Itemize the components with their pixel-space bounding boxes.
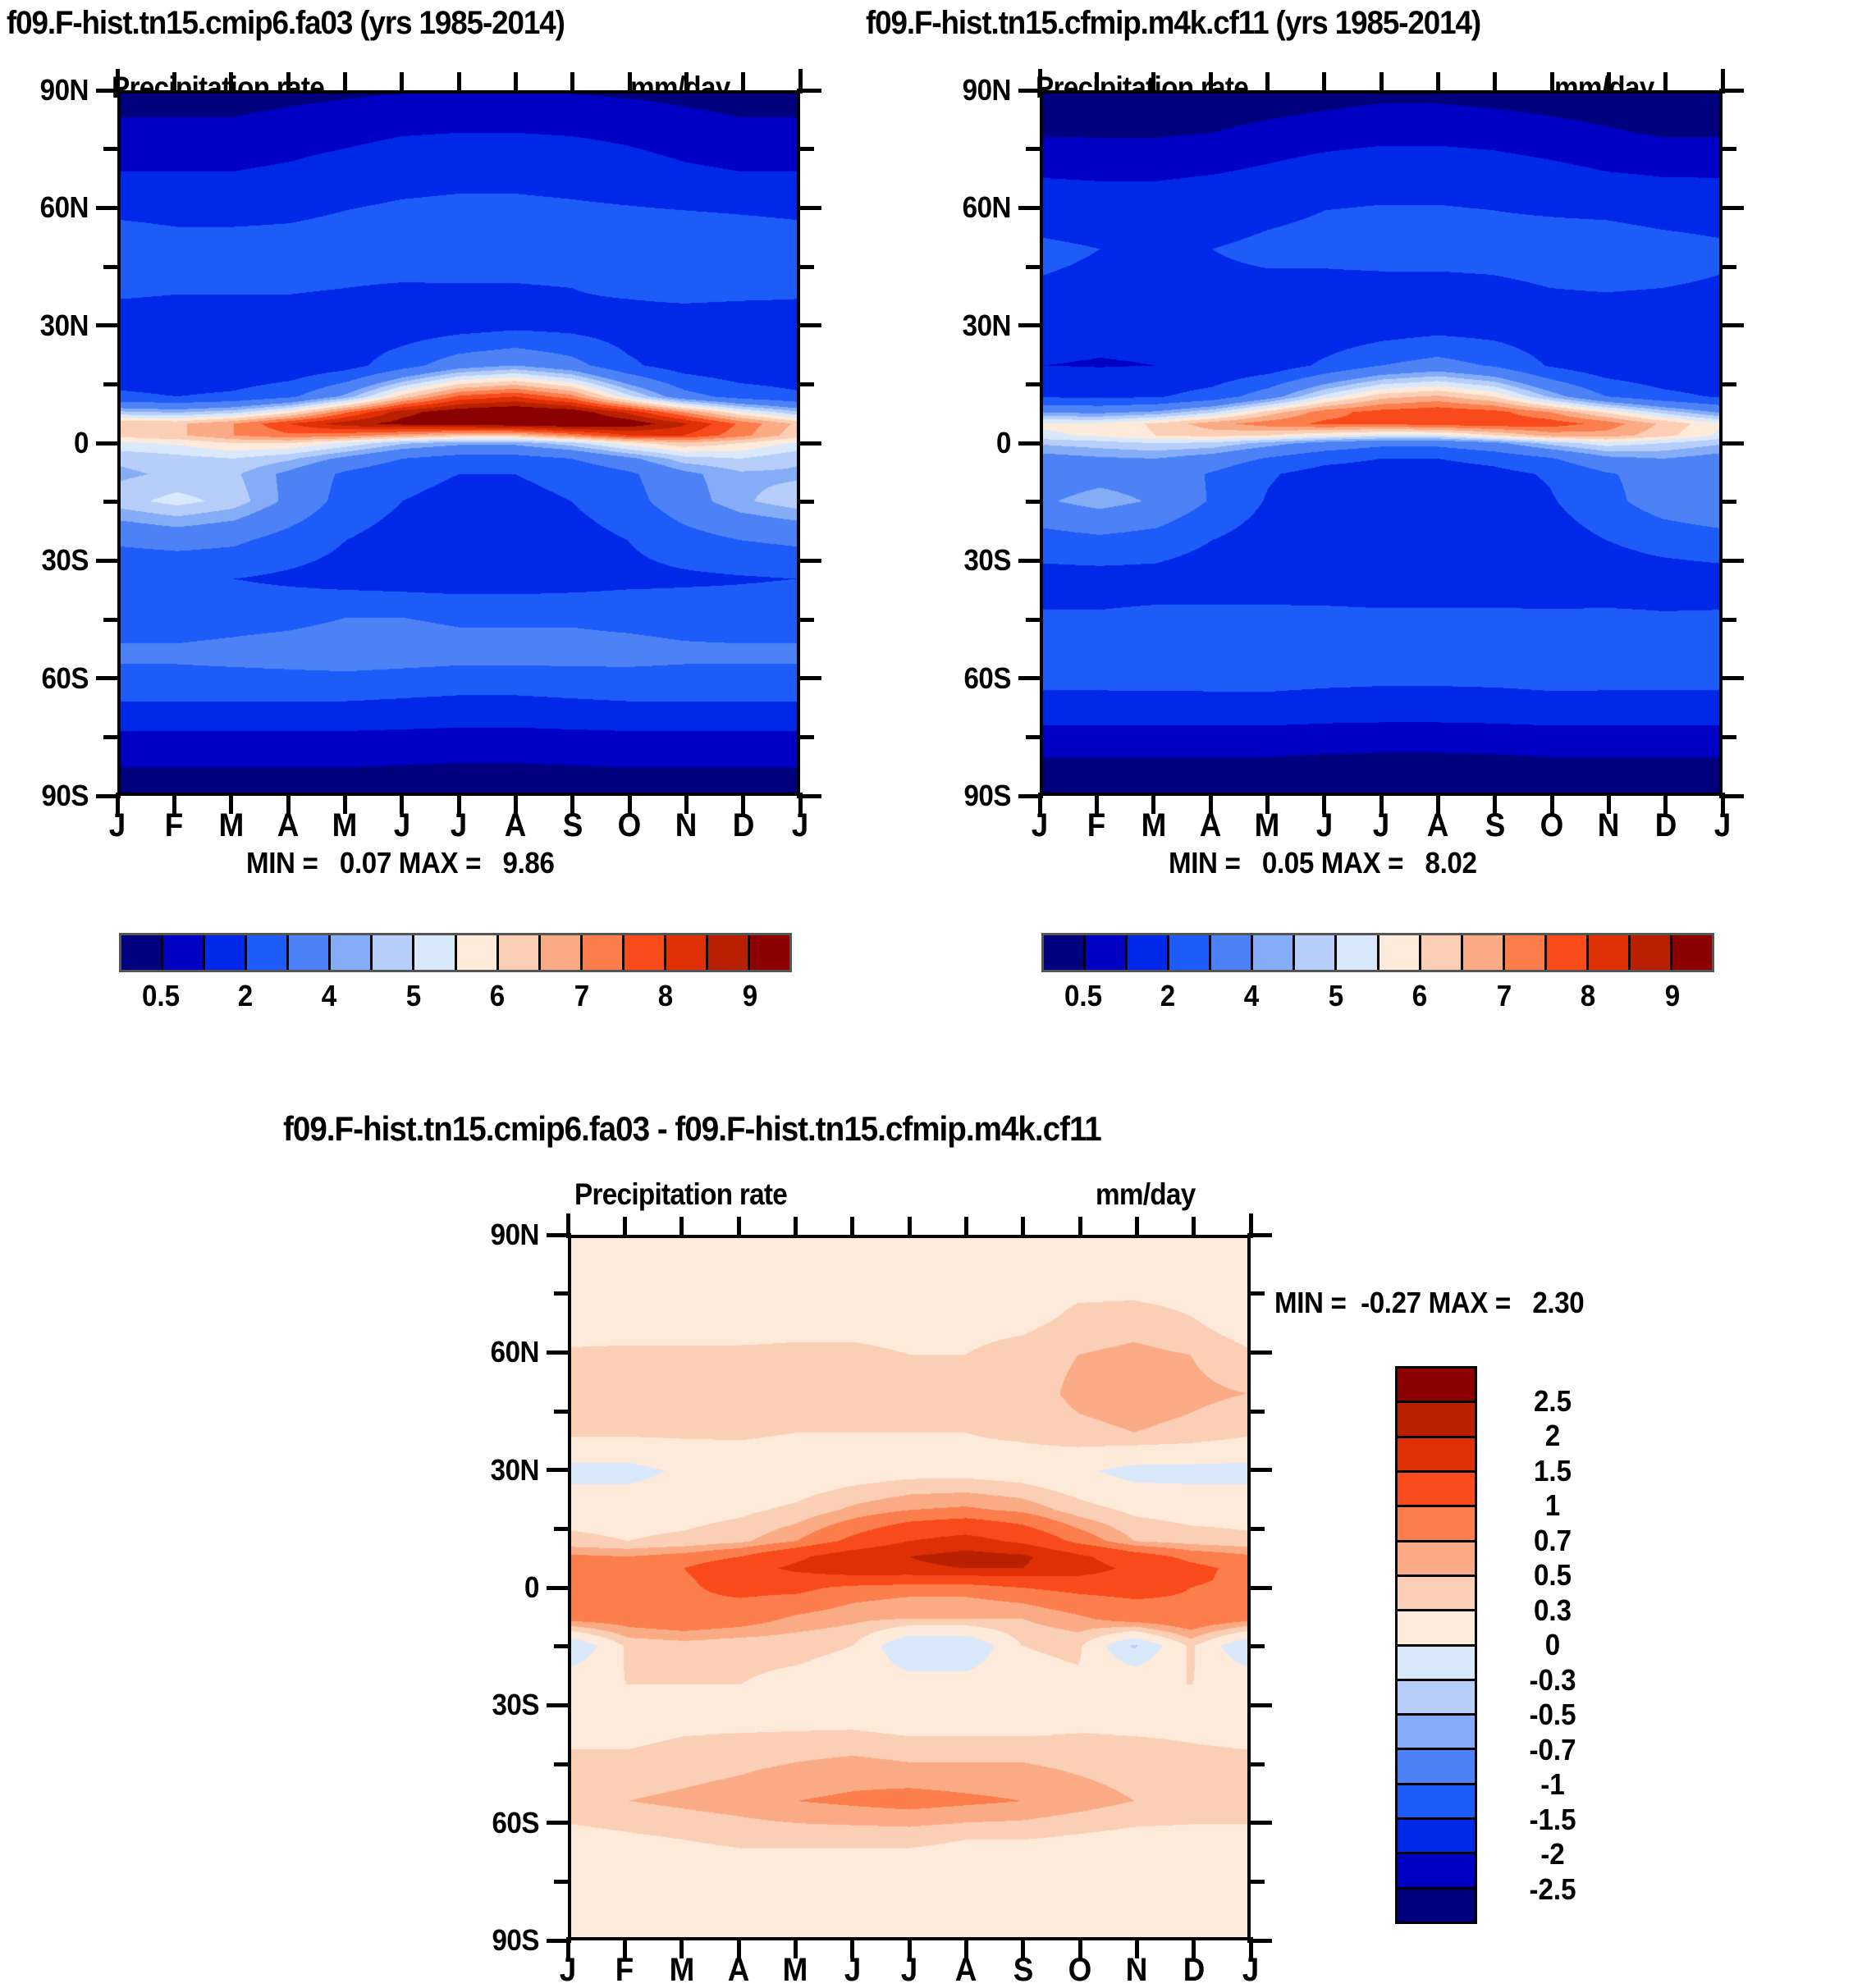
y-tick-left--15 (103, 500, 121, 504)
y-tick-right-left-30 (797, 323, 821, 327)
x-tick-top-left-5 (400, 72, 404, 94)
x-axis-month-label-diff-10: N (1107, 1954, 1168, 1986)
colorbar-cell-right-2 (1128, 935, 1169, 970)
colorbar-label-left-7: 9 (712, 981, 788, 1011)
y-tick-left--30 (96, 559, 121, 563)
y-tick-right-left--30 (797, 559, 821, 563)
y-tick-diff-30 (547, 1468, 571, 1472)
colorbar-cell-left-7 (414, 935, 456, 970)
panel-right-title: f09.F-hist.tn15.cfmip.m4k.cf11 (yrs 1985… (866, 7, 1480, 39)
x-tick-top-right-8 (1493, 72, 1497, 94)
y-tick-diff--45 (554, 1762, 571, 1766)
y-tick-right-right-30 (1719, 323, 1744, 327)
colorbar-cell-right-10 (1463, 935, 1505, 970)
y-tick-right-right-15 (1719, 382, 1736, 386)
diff-colorbar-cell-2 (1398, 1438, 1475, 1473)
diff-colorbar-label-6: 0.3 (1492, 1596, 1613, 1625)
x-tick-top-left-10 (684, 72, 689, 94)
colorbar-cell-right-11 (1505, 935, 1547, 970)
y-axis-label-left-3: 0 (0, 428, 89, 458)
x-tick-top-diff-0 (566, 1213, 570, 1238)
x-axis-month-label-diff-1: F (595, 1954, 656, 1986)
colorbar-cell-right-6 (1295, 935, 1337, 970)
y-tick-left--75 (103, 735, 121, 739)
diff-colorbar-label-11: -1 (1492, 1770, 1613, 1799)
y-tick-right--30 (1018, 559, 1043, 563)
y-tick-left--45 (103, 618, 121, 622)
y-tick-diff--30 (547, 1703, 571, 1707)
diff-colorbar-cell-12 (1398, 1785, 1475, 1820)
diff-colorbar-cell-3 (1398, 1473, 1475, 1507)
x-tick-top-diff-8 (1021, 1217, 1025, 1238)
colorbar-label-right-0: 0.5 (1045, 981, 1121, 1011)
diff-colorbar-label-5: 0.5 (1492, 1561, 1613, 1590)
x-axis-month-label-right-6: J (1351, 809, 1411, 842)
x-tick-top-left-11 (741, 72, 745, 94)
colorbar-cell-right-0 (1044, 935, 1086, 970)
colorbar-label-left-2: 4 (291, 981, 367, 1011)
colorbar-label-left-1: 2 (208, 981, 283, 1011)
y-tick-right-left--75 (797, 735, 814, 739)
y-axis-label-left-5: 60S (0, 664, 89, 693)
y-tick-left-30 (96, 323, 121, 327)
panel-left-title: f09.F-hist.tn15.cmip6.fa03 (yrs 1985-201… (7, 7, 565, 39)
y-tick-right-right--75 (1719, 735, 1736, 739)
x-tick-top-right-4 (1265, 72, 1270, 94)
colorbar-cell-left-3 (247, 935, 289, 970)
x-axis-month-label-diff-11: D (1164, 1954, 1224, 1986)
x-tick-top-right-12 (1721, 69, 1725, 94)
x-axis-month-label-left-4: M (315, 809, 376, 842)
colorbar-cell-right-9 (1421, 935, 1463, 970)
x-tick-top-right-2 (1151, 72, 1155, 94)
colorbar-cell-left-5 (331, 935, 373, 970)
y-tick-left-60 (96, 206, 121, 210)
diff-colorbar-label-14: -2.5 (1492, 1875, 1613, 1904)
y-tick-left-45 (103, 265, 121, 269)
x-axis-month-label-left-5: J (372, 809, 432, 842)
y-axis-label-right-0: 90N (905, 75, 1011, 105)
y-axis-label-left-4: 30S (0, 546, 89, 575)
diff-colorbar-cell-11 (1398, 1750, 1475, 1785)
y-tick-left-15 (103, 382, 121, 386)
x-axis-month-label-diff-0: J (538, 1954, 598, 1986)
colorbar-cell-left-11 (583, 935, 625, 970)
colorbar-label-right-2: 4 (1214, 981, 1289, 1011)
colorbar-cell-right-15 (1672, 935, 1712, 970)
colorbar-label-left-4: 6 (460, 981, 535, 1011)
diff-colorbar-label-7: 0 (1492, 1630, 1613, 1660)
x-axis-month-label-diff-6: J (879, 1954, 940, 1986)
panel-right-colorbar[interactable] (1041, 933, 1714, 972)
y-tick-left--60 (96, 676, 121, 680)
x-axis-month-label-left-11: D (713, 809, 774, 842)
panel-diff-units-label: mm/day (1096, 1179, 1196, 1209)
x-axis-month-label-right-0: J (1009, 809, 1070, 842)
y-tick-right--60 (1018, 676, 1043, 680)
x-axis-month-label-right-7: A (1408, 809, 1469, 842)
x-axis-month-label-right-9: O (1521, 809, 1582, 842)
x-axis-month-label-left-0: J (87, 809, 148, 842)
colorbar-cell-right-12 (1547, 935, 1589, 970)
x-axis-month-label-left-12: J (770, 809, 830, 842)
y-tick-right-diff-60 (1247, 1350, 1272, 1355)
y-tick-right-diff--15 (1247, 1644, 1265, 1648)
y-tick-right-left-75 (797, 147, 814, 151)
x-tick-top-right-0 (1038, 69, 1042, 94)
y-axis-label-right-1: 60N (905, 193, 1011, 222)
x-tick-top-left-2 (229, 72, 233, 94)
y-tick-right-right-45 (1719, 265, 1736, 269)
colorbar-cell-left-12 (625, 935, 666, 970)
x-tick-top-diff-1 (623, 1217, 627, 1238)
colorbar-cell-right-4 (1211, 935, 1253, 970)
x-axis-month-label-right-3: A (1180, 809, 1241, 842)
y-tick-right--75 (1026, 735, 1043, 739)
colorbar-cell-left-0 (121, 935, 163, 970)
y-tick-right-right-60 (1719, 206, 1744, 210)
x-axis-month-label-right-5: J (1294, 809, 1355, 842)
x-axis-month-label-left-3: A (258, 809, 318, 842)
diff-colorbar-cell-5 (1398, 1542, 1475, 1577)
x-axis-month-label-diff-3: A (708, 1954, 769, 1986)
y-axis-label-diff-5: 60S (433, 1808, 539, 1838)
diff-colorbar-cell-13 (1398, 1820, 1475, 1854)
x-axis-month-label-left-6: J (428, 809, 489, 842)
x-tick-top-diff-2 (679, 1217, 684, 1238)
diff-colorbar-label-2: 1.5 (1492, 1456, 1613, 1486)
y-tick-right--15 (1026, 500, 1043, 504)
x-tick-top-diff-10 (1135, 1217, 1139, 1238)
x-tick-top-right-11 (1663, 72, 1668, 94)
x-axis-month-label-diff-9: O (1050, 1954, 1110, 1986)
colorbar-label-right-5: 7 (1466, 981, 1542, 1011)
y-tick-right-left--60 (797, 676, 821, 680)
y-tick-diff-75 (554, 1291, 571, 1296)
y-axis-label-diff-1: 60N (433, 1337, 539, 1367)
x-axis-month-label-left-7: A (486, 809, 547, 842)
y-tick-right-diff--75 (1247, 1880, 1265, 1884)
colorbar-cell-left-6 (373, 935, 414, 970)
x-axis-month-label-right-2: M (1123, 809, 1184, 842)
x-axis-month-label-diff-7: A (936, 1954, 997, 1986)
x-axis-month-label-left-1: F (144, 809, 205, 842)
y-tick-right-right--30 (1719, 559, 1744, 563)
y-tick-right-left-0 (797, 441, 821, 446)
y-axis-label-left-2: 30N (0, 311, 89, 340)
colorbar-cell-right-14 (1631, 935, 1672, 970)
colorbar-label-right-3: 5 (1298, 981, 1374, 1011)
y-tick-diff--15 (554, 1644, 571, 1648)
y-axis-label-right-3: 0 (905, 428, 1011, 458)
colorbar-label-left-5: 7 (544, 981, 620, 1011)
diff-colorbar-label-8: -0.3 (1492, 1666, 1613, 1695)
x-axis-month-label-left-9: O (599, 809, 660, 842)
colorbar-cell-left-13 (666, 935, 708, 970)
y-tick-right-left--15 (797, 500, 814, 504)
x-tick-top-left-12 (798, 69, 803, 94)
y-tick-right-75 (1026, 147, 1043, 151)
y-tick-right-right--45 (1719, 618, 1736, 622)
colorbar-cell-right-3 (1169, 935, 1211, 970)
panel-diff-minmax: MIN = -0.27 MAX = 2.30 (1274, 1288, 1584, 1318)
panel-left-minmax: MIN = 0.07 MAX = 9.86 (246, 848, 555, 878)
y-axis-label-right-2: 30N (905, 311, 1011, 340)
x-axis-month-label-left-8: S (542, 809, 603, 842)
diff-colorbar-label-4: 0.7 (1492, 1526, 1613, 1556)
diff-colorbar-cell-0 (1398, 1369, 1475, 1403)
colorbar-label-right-7: 9 (1635, 981, 1710, 1011)
panel-left-colorbar[interactable] (119, 933, 792, 972)
y-tick-right-diff-45 (1247, 1410, 1265, 1414)
y-tick-diff-15 (554, 1527, 571, 1531)
y-axis-label-left-0: 90N (0, 75, 89, 105)
y-tick-right-15 (1026, 382, 1043, 386)
y-tick-diff--75 (554, 1880, 571, 1884)
x-tick-top-diff-11 (1192, 1217, 1196, 1238)
x-axis-month-label-diff-4: M (766, 1954, 826, 1986)
x-axis-month-label-right-4: M (1238, 809, 1298, 842)
y-tick-right-30 (1018, 323, 1043, 327)
diff-colorbar-label-3: 1 (1492, 1491, 1613, 1520)
diff-colorbar-cell-10 (1398, 1716, 1475, 1750)
y-tick-diff-45 (554, 1410, 571, 1414)
y-axis-label-left-6: 90S (0, 781, 89, 811)
y-axis-label-right-4: 30S (905, 546, 1011, 575)
x-tick-top-left-7 (514, 72, 518, 94)
x-axis-month-label-diff-12: J (1220, 1954, 1281, 1986)
y-axis-label-right-5: 60S (905, 664, 1011, 693)
x-tick-top-right-7 (1436, 72, 1440, 94)
panel-right-minmax: MIN = 0.05 MAX = 8.02 (1169, 848, 1477, 878)
y-tick-right-45 (1026, 265, 1043, 269)
y-tick-left-0 (96, 441, 121, 446)
x-tick-top-left-3 (286, 72, 291, 94)
y-axis-label-left-1: 60N (0, 193, 89, 222)
y-tick-right-left--45 (797, 618, 814, 622)
x-tick-top-diff-5 (850, 1217, 854, 1238)
diff-colorbar-label-13: -2 (1492, 1839, 1613, 1869)
y-tick-right-diff-0 (1247, 1586, 1272, 1590)
x-axis-month-label-right-1: F (1067, 809, 1128, 842)
colorbar-cell-right-5 (1253, 935, 1295, 970)
y-tick-right-right-75 (1719, 147, 1736, 151)
colorbar-cell-left-14 (708, 935, 750, 970)
diff-colorbar-label-1: 2 (1492, 1421, 1613, 1451)
x-tick-top-right-6 (1379, 72, 1384, 94)
diff-colorbar-cell-4 (1398, 1507, 1475, 1542)
y-tick-right-left-60 (797, 206, 821, 210)
diff-colorbar-cell-9 (1398, 1681, 1475, 1716)
y-tick-diff-60 (547, 1350, 571, 1355)
diff-colorbar-cell-15 (1398, 1890, 1475, 1922)
colorbar-label-left-6: 8 (628, 981, 703, 1011)
x-tick-top-diff-12 (1249, 1213, 1253, 1238)
y-tick-right-left-15 (797, 382, 814, 386)
colorbar-cell-left-15 (750, 935, 789, 970)
y-tick-right-right--60 (1719, 676, 1744, 680)
x-tick-top-left-0 (116, 69, 120, 94)
x-axis-month-label-right-10: N (1579, 809, 1640, 842)
diff-colorbar-cell-14 (1398, 1854, 1475, 1889)
colorbar-label-left-0: 0.5 (123, 981, 199, 1011)
x-tick-top-left-8 (570, 72, 574, 94)
colorbar-cell-right-8 (1379, 935, 1421, 970)
panel-right-plot-area[interactable] (1040, 90, 1723, 796)
diff-colorbar-label-12: -1.5 (1492, 1805, 1613, 1835)
y-tick-right-diff-15 (1247, 1527, 1265, 1531)
panel-diff-title: f09.F-hist.tn15.cmip6.fa03 - f09.F-hist.… (283, 1112, 1101, 1146)
y-axis-label-diff-6: 90S (433, 1926, 539, 1955)
x-tick-top-left-9 (628, 72, 632, 94)
y-tick-right--45 (1026, 618, 1043, 622)
y-axis-label-diff-2: 30N (433, 1456, 539, 1485)
y-tick-diff-0 (547, 1586, 571, 1590)
colorbar-label-right-1: 2 (1130, 981, 1206, 1011)
x-tick-top-diff-9 (1078, 1217, 1082, 1238)
x-axis-month-label-right-8: S (1465, 809, 1526, 842)
x-tick-top-diff-3 (737, 1217, 741, 1238)
x-axis-month-label-diff-8: S (993, 1954, 1054, 1986)
y-tick-right-diff-75 (1247, 1291, 1265, 1296)
x-tick-top-right-10 (1607, 72, 1611, 94)
y-tick-right-right-0 (1719, 441, 1744, 446)
colorbar-cell-left-1 (163, 935, 205, 970)
colorbar-cell-left-8 (457, 935, 499, 970)
y-axis-label-diff-4: 30S (433, 1690, 539, 1720)
colorbar-cell-left-4 (289, 935, 331, 970)
x-tick-top-right-9 (1550, 72, 1554, 94)
colorbar-label-left-3: 5 (376, 981, 451, 1011)
colorbar-cell-left-10 (541, 935, 583, 970)
diff-colorbar-label-10: -0.7 (1492, 1735, 1613, 1765)
colorbar-cell-left-9 (499, 935, 541, 970)
y-tick-right-left-45 (797, 265, 814, 269)
panel-diff-variable-label: Precipitation rate (574, 1179, 787, 1209)
x-tick-top-diff-4 (794, 1217, 798, 1238)
colorbar-label-right-4: 6 (1382, 981, 1457, 1011)
figure-root: f09.F-hist.tn15.cmip6.fa03 (yrs 1985-201… (0, 0, 1853, 1973)
x-tick-top-right-5 (1322, 72, 1326, 94)
y-tick-right-diff--45 (1247, 1762, 1265, 1766)
diff-colorbar-label-0: 2.5 (1492, 1387, 1613, 1416)
colorbar-cell-left-2 (205, 935, 247, 970)
diff-colorbar-label-9: -0.5 (1492, 1700, 1613, 1730)
panel-diff-colorbar[interactable] (1395, 1366, 1477, 1924)
diff-colorbar-cell-1 (1398, 1403, 1475, 1437)
y-axis-label-right-6: 90S (905, 781, 1011, 811)
y-axis-label-diff-0: 90N (433, 1220, 539, 1250)
x-axis-month-label-left-10: N (657, 809, 717, 842)
diff-colorbar-cell-8 (1398, 1647, 1475, 1681)
panel-diff-plot-area[interactable] (568, 1235, 1251, 1940)
y-axis-label-diff-3: 0 (433, 1573, 539, 1602)
diff-colorbar-cell-6 (1398, 1577, 1475, 1611)
colorbar-cell-right-7 (1337, 935, 1379, 970)
y-tick-right-60 (1018, 206, 1043, 210)
y-tick-right-right--15 (1719, 500, 1736, 504)
x-tick-top-left-4 (343, 72, 347, 94)
x-axis-month-label-left-2: M (201, 809, 262, 842)
x-axis-month-label-right-12: J (1692, 809, 1753, 842)
colorbar-cell-right-13 (1589, 935, 1631, 970)
y-tick-right-diff--60 (1247, 1821, 1272, 1825)
x-tick-top-diff-7 (964, 1217, 968, 1238)
diff-colorbar-cell-7 (1398, 1611, 1475, 1646)
panel-left-plot-area[interactable] (117, 90, 800, 796)
y-tick-diff--60 (547, 1821, 571, 1825)
x-tick-top-left-6 (457, 72, 461, 94)
x-tick-top-left-1 (172, 72, 176, 94)
colorbar-label-right-6: 8 (1550, 981, 1626, 1011)
x-tick-top-diff-6 (908, 1217, 912, 1238)
x-axis-month-label-diff-5: J (822, 1954, 883, 1986)
x-axis-month-label-right-11: D (1636, 809, 1696, 842)
y-tick-left-75 (103, 147, 121, 151)
y-tick-right-diff-30 (1247, 1468, 1272, 1472)
x-axis-month-label-diff-2: M (652, 1954, 712, 1986)
colorbar-cell-right-1 (1086, 935, 1128, 970)
x-tick-top-right-1 (1095, 72, 1099, 94)
y-tick-right-diff--30 (1247, 1703, 1272, 1707)
y-tick-right-0 (1018, 441, 1043, 446)
x-tick-top-right-3 (1209, 72, 1213, 94)
